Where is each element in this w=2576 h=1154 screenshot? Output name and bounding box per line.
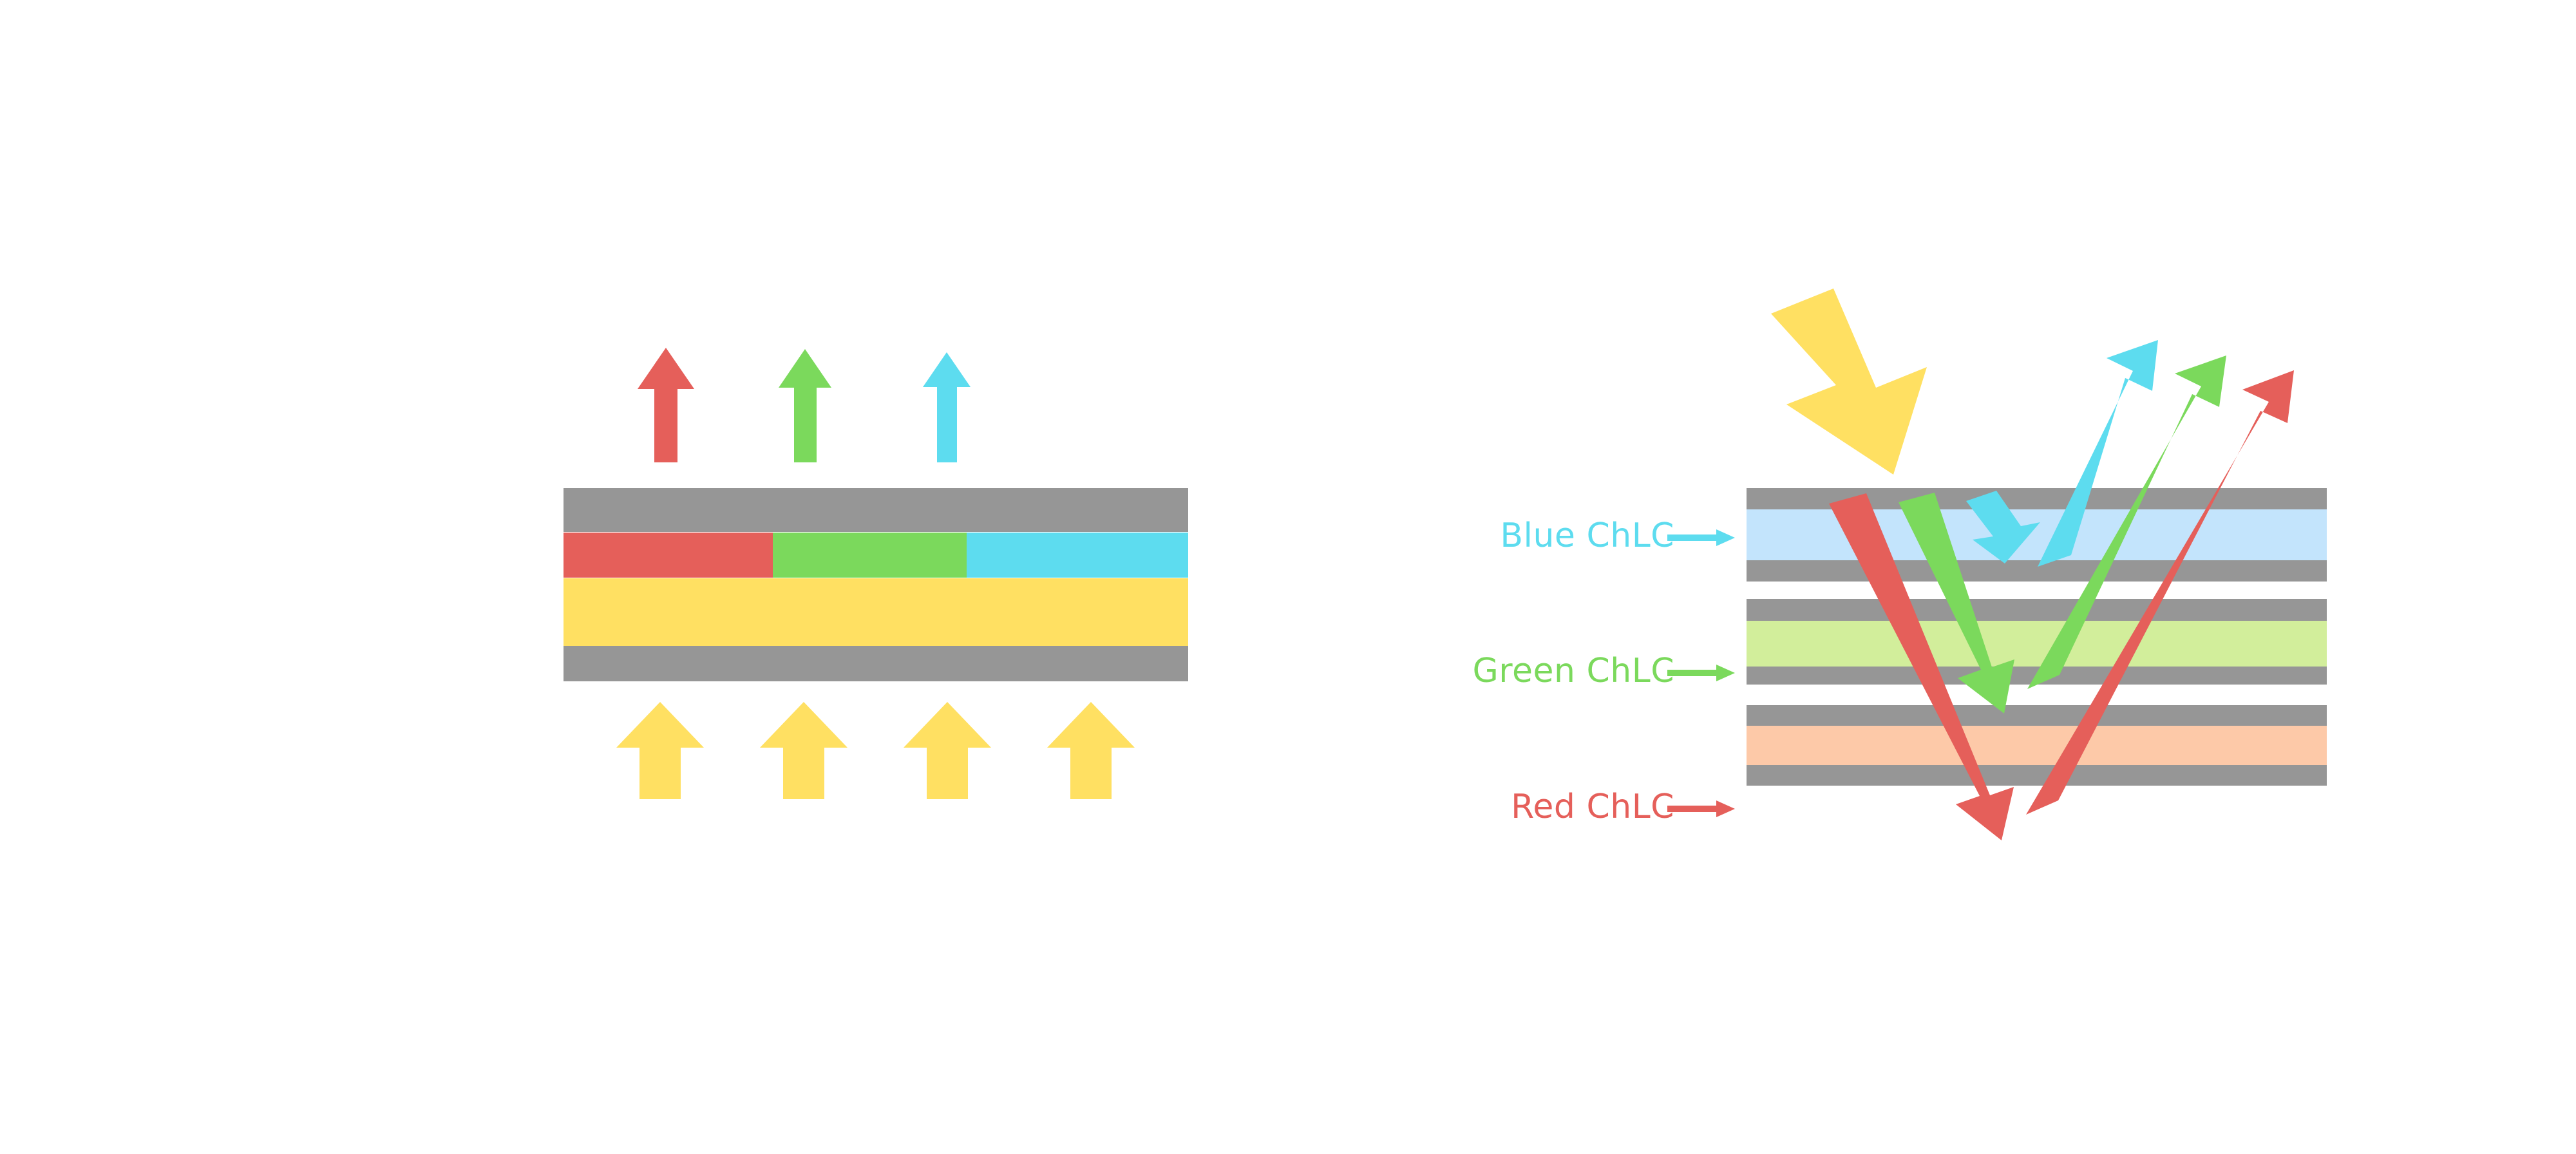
red-chlc-group (1747, 705, 2327, 786)
green-chlc-group (1747, 599, 2327, 685)
red-chlc-label: Red ChLC (1511, 788, 1674, 826)
red-top-electrode (1747, 705, 2327, 726)
incident-white-light-group (1771, 288, 1927, 475)
incident-white-light-arrow (1771, 288, 1927, 475)
green-chlc-cell (1747, 621, 2327, 667)
red-bottom-electrode (1747, 765, 2327, 786)
blue-bottom-electrode (1747, 560, 2327, 582)
red-chlc-cell (1747, 726, 2327, 765)
green-chlc-label: Green ChLC (1472, 652, 1674, 690)
green-top-electrode (1747, 599, 2327, 621)
blue-chlc-label: Blue ChLC (1500, 516, 1674, 555)
blue-chlc-group (1747, 488, 2327, 582)
blue-chlc-cell (1747, 509, 2327, 560)
diagram-canvas: Blue ChLC Green ChLC Red ChLC (0, 0, 2576, 1154)
red-chlc-label-arrow-icon (1667, 800, 1735, 817)
chlc-stack-group (1747, 488, 2327, 786)
chlc-labels-group: Blue ChLC Green ChLC Red ChLC (1472, 516, 1735, 826)
right-panel: Blue ChLC Green ChLC Red ChLC (0, 0, 2576, 1154)
blue-chlc-label-arrow-icon (1667, 529, 1735, 546)
green-chlc-label-arrow-icon (1667, 665, 1735, 681)
